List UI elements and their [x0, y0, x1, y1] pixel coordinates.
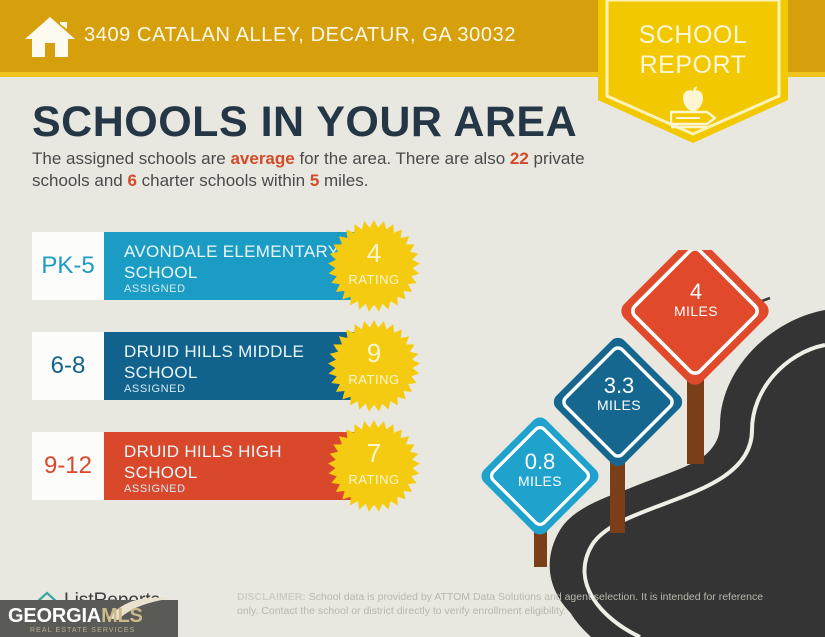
school-bar: DRUID HILLS HIGH SCHOOL ASSIGNED	[104, 432, 362, 500]
infographic-root: 3409 CATALAN ALLEY, DECATUR, GA 30032 SC…	[0, 0, 825, 637]
school-status: ASSIGNED	[124, 283, 186, 295]
rating-value: 9	[328, 340, 420, 366]
school-row[interactable]: 9-12 DRUID HILLS HIGH SCHOOL ASSIGNED 7 …	[32, 432, 452, 500]
distance-unit: MILES	[650, 303, 742, 319]
home-icon	[22, 14, 78, 60]
school-row[interactable]: 6-8 DRUID HILLS MIDDLE SCHOOL ASSIGNED 9…	[32, 332, 452, 400]
grade-range-box: PK-5	[32, 232, 104, 300]
georgia-mls-logo: GEORGIAMLS REAL ESTATE SERVICES	[0, 600, 178, 637]
distance-value: 0.8	[500, 450, 580, 473]
grade-range-label: 9-12	[44, 452, 92, 480]
disclaimer-body: School data is provided by ATTOM Data So…	[237, 591, 763, 617]
mls-tagline: REAL ESTATE SERVICES	[30, 627, 135, 634]
mls-word-georgia: GEORGIA	[8, 605, 101, 627]
subtitle-part-4: charter schools within	[137, 171, 310, 190]
badge-line-1: SCHOOL	[598, 20, 788, 50]
distance-sign-label-1: 3.3 MILES	[576, 374, 662, 413]
school-name: DRUID HILLS MIDDLE SCHOOL	[124, 341, 354, 383]
distance-unit: MILES	[500, 473, 580, 489]
property-address: 3409 CATALAN ALLEY, DECATUR, GA 30032	[84, 24, 516, 47]
school-name: DRUID HILLS HIGH SCHOOL	[124, 441, 354, 483]
subtitle-highlight-private-count: 22	[510, 149, 529, 168]
apple-icon	[680, 86, 706, 112]
subtitle-part-1: The assigned schools are	[32, 149, 230, 168]
badge-text: SCHOOL REPORT	[598, 20, 788, 80]
road-scene: 0.8 MILES 3.3 MILES 4 MILES	[470, 250, 825, 637]
grade-range-box: 6-8	[32, 332, 104, 400]
grade-range-label: 6-8	[51, 352, 86, 380]
grade-range-label: PK-5	[41, 252, 94, 280]
school-status: ASSIGNED	[124, 383, 186, 395]
school-name: AVONDALE ELEMENTARY SCHOOL	[124, 241, 354, 283]
badge-line-2: REPORT	[598, 50, 788, 80]
grade-range-box: 9-12	[32, 432, 104, 500]
school-bar: DRUID HILLS MIDDLE SCHOOL ASSIGNED	[104, 332, 362, 400]
book-icon	[670, 110, 716, 132]
road-illustration	[470, 250, 825, 637]
school-list: PK-5 AVONDALE ELEMENTARY SCHOOL ASSIGNED…	[32, 232, 452, 532]
page-title: SCHOOLS IN YOUR AREA	[32, 98, 577, 147]
disclaimer-text: DISCLAIMER: School data is provided by A…	[237, 590, 785, 618]
subtitle-part-5: miles.	[319, 171, 368, 190]
subtitle-highlight-radius: 5	[310, 171, 319, 190]
school-status: ASSIGNED	[124, 483, 186, 495]
subtitle-highlight-charter-count: 6	[127, 171, 136, 190]
disclaimer-label: DISCLAIMER:	[237, 591, 306, 603]
school-report-badge: SCHOOL REPORT	[598, 0, 788, 143]
rating-value: 4	[328, 240, 420, 266]
rating-label: RATING	[328, 472, 420, 487]
mls-word-mls: MLS	[101, 605, 143, 627]
distance-sign-label-0: 0.8 MILES	[500, 450, 580, 489]
subtitle-part-2: for the area. There are also	[295, 149, 510, 168]
distance-sign-label-2: 4 MILES	[650, 280, 742, 319]
subtitle: The assigned schools are average for the…	[32, 148, 592, 192]
rating-label: RATING	[328, 272, 420, 287]
school-bar: AVONDALE ELEMENTARY SCHOOL ASSIGNED	[104, 232, 362, 300]
rating-value: 7	[328, 440, 420, 466]
distance-value: 3.3	[576, 374, 662, 397]
mls-wordmark: GEORGIAMLS	[8, 605, 143, 628]
rating-label: RATING	[328, 372, 420, 387]
distance-value: 4	[650, 280, 742, 303]
school-row[interactable]: PK-5 AVONDALE ELEMENTARY SCHOOL ASSIGNED…	[32, 232, 452, 300]
subtitle-highlight-average: average	[230, 149, 294, 168]
distance-unit: MILES	[576, 397, 662, 413]
